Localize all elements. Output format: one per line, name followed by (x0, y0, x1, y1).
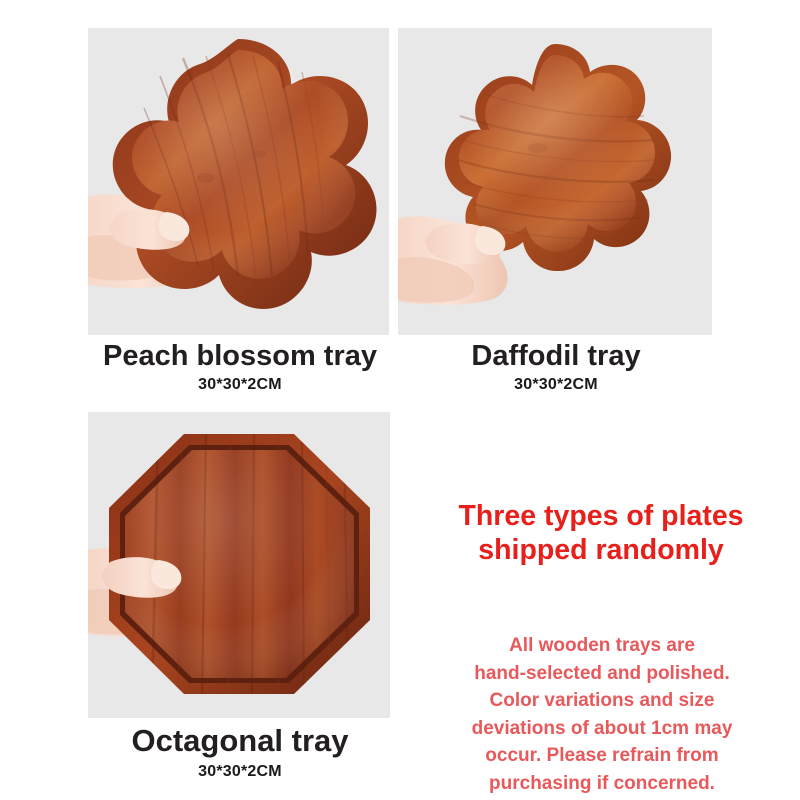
product-photo-peach-blossom (88, 28, 389, 335)
product-size-peach-blossom: 30*30*2CM (60, 376, 420, 394)
daffodil-tray-illustration (398, 28, 712, 335)
product-title-daffodil: Daffodil tray (400, 341, 712, 371)
promo-headline-line-1: Three types of plates (458, 500, 743, 532)
promo-disclaimer: All wooden trays are hand-selected and p… (420, 632, 784, 797)
promo-headline: Three types of plates shipped randomly (418, 500, 784, 567)
caption-daffodil: Daffodil tray 30*30*2CM (400, 341, 712, 394)
peach-blossom-tray-illustration (88, 28, 389, 335)
product-photo-octagonal (88, 412, 390, 718)
disclaimer-line-5: occur. Please refrain from (420, 742, 784, 770)
disclaimer-line-2: hand-selected and polished. (420, 660, 784, 688)
disclaimer-line-3: Color variations and size (420, 687, 784, 715)
product-size-daffodil: 30*30*2CM (400, 376, 712, 394)
promo-headline-line-2: shipped randomly (418, 534, 784, 568)
product-image-canvas: Peach blossom tray 30*30*2CM (0, 0, 800, 800)
disclaimer-line-4: deviations of about 1cm may (420, 715, 784, 743)
product-photo-daffodil (398, 28, 712, 335)
product-title-peach-blossom: Peach blossom tray (60, 341, 420, 371)
disclaimer-line-1: All wooden trays are (420, 632, 784, 660)
product-size-octagonal: 30*30*2CM (60, 763, 420, 781)
octagonal-tray-illustration (88, 412, 390, 718)
caption-peach-blossom: Peach blossom tray 30*30*2CM (60, 341, 420, 394)
caption-octagonal: Octagonal tray 30*30*2CM (60, 725, 420, 781)
product-title-octagonal: Octagonal tray (60, 725, 420, 758)
disclaimer-line-6: purchasing if concerned. (420, 770, 784, 798)
